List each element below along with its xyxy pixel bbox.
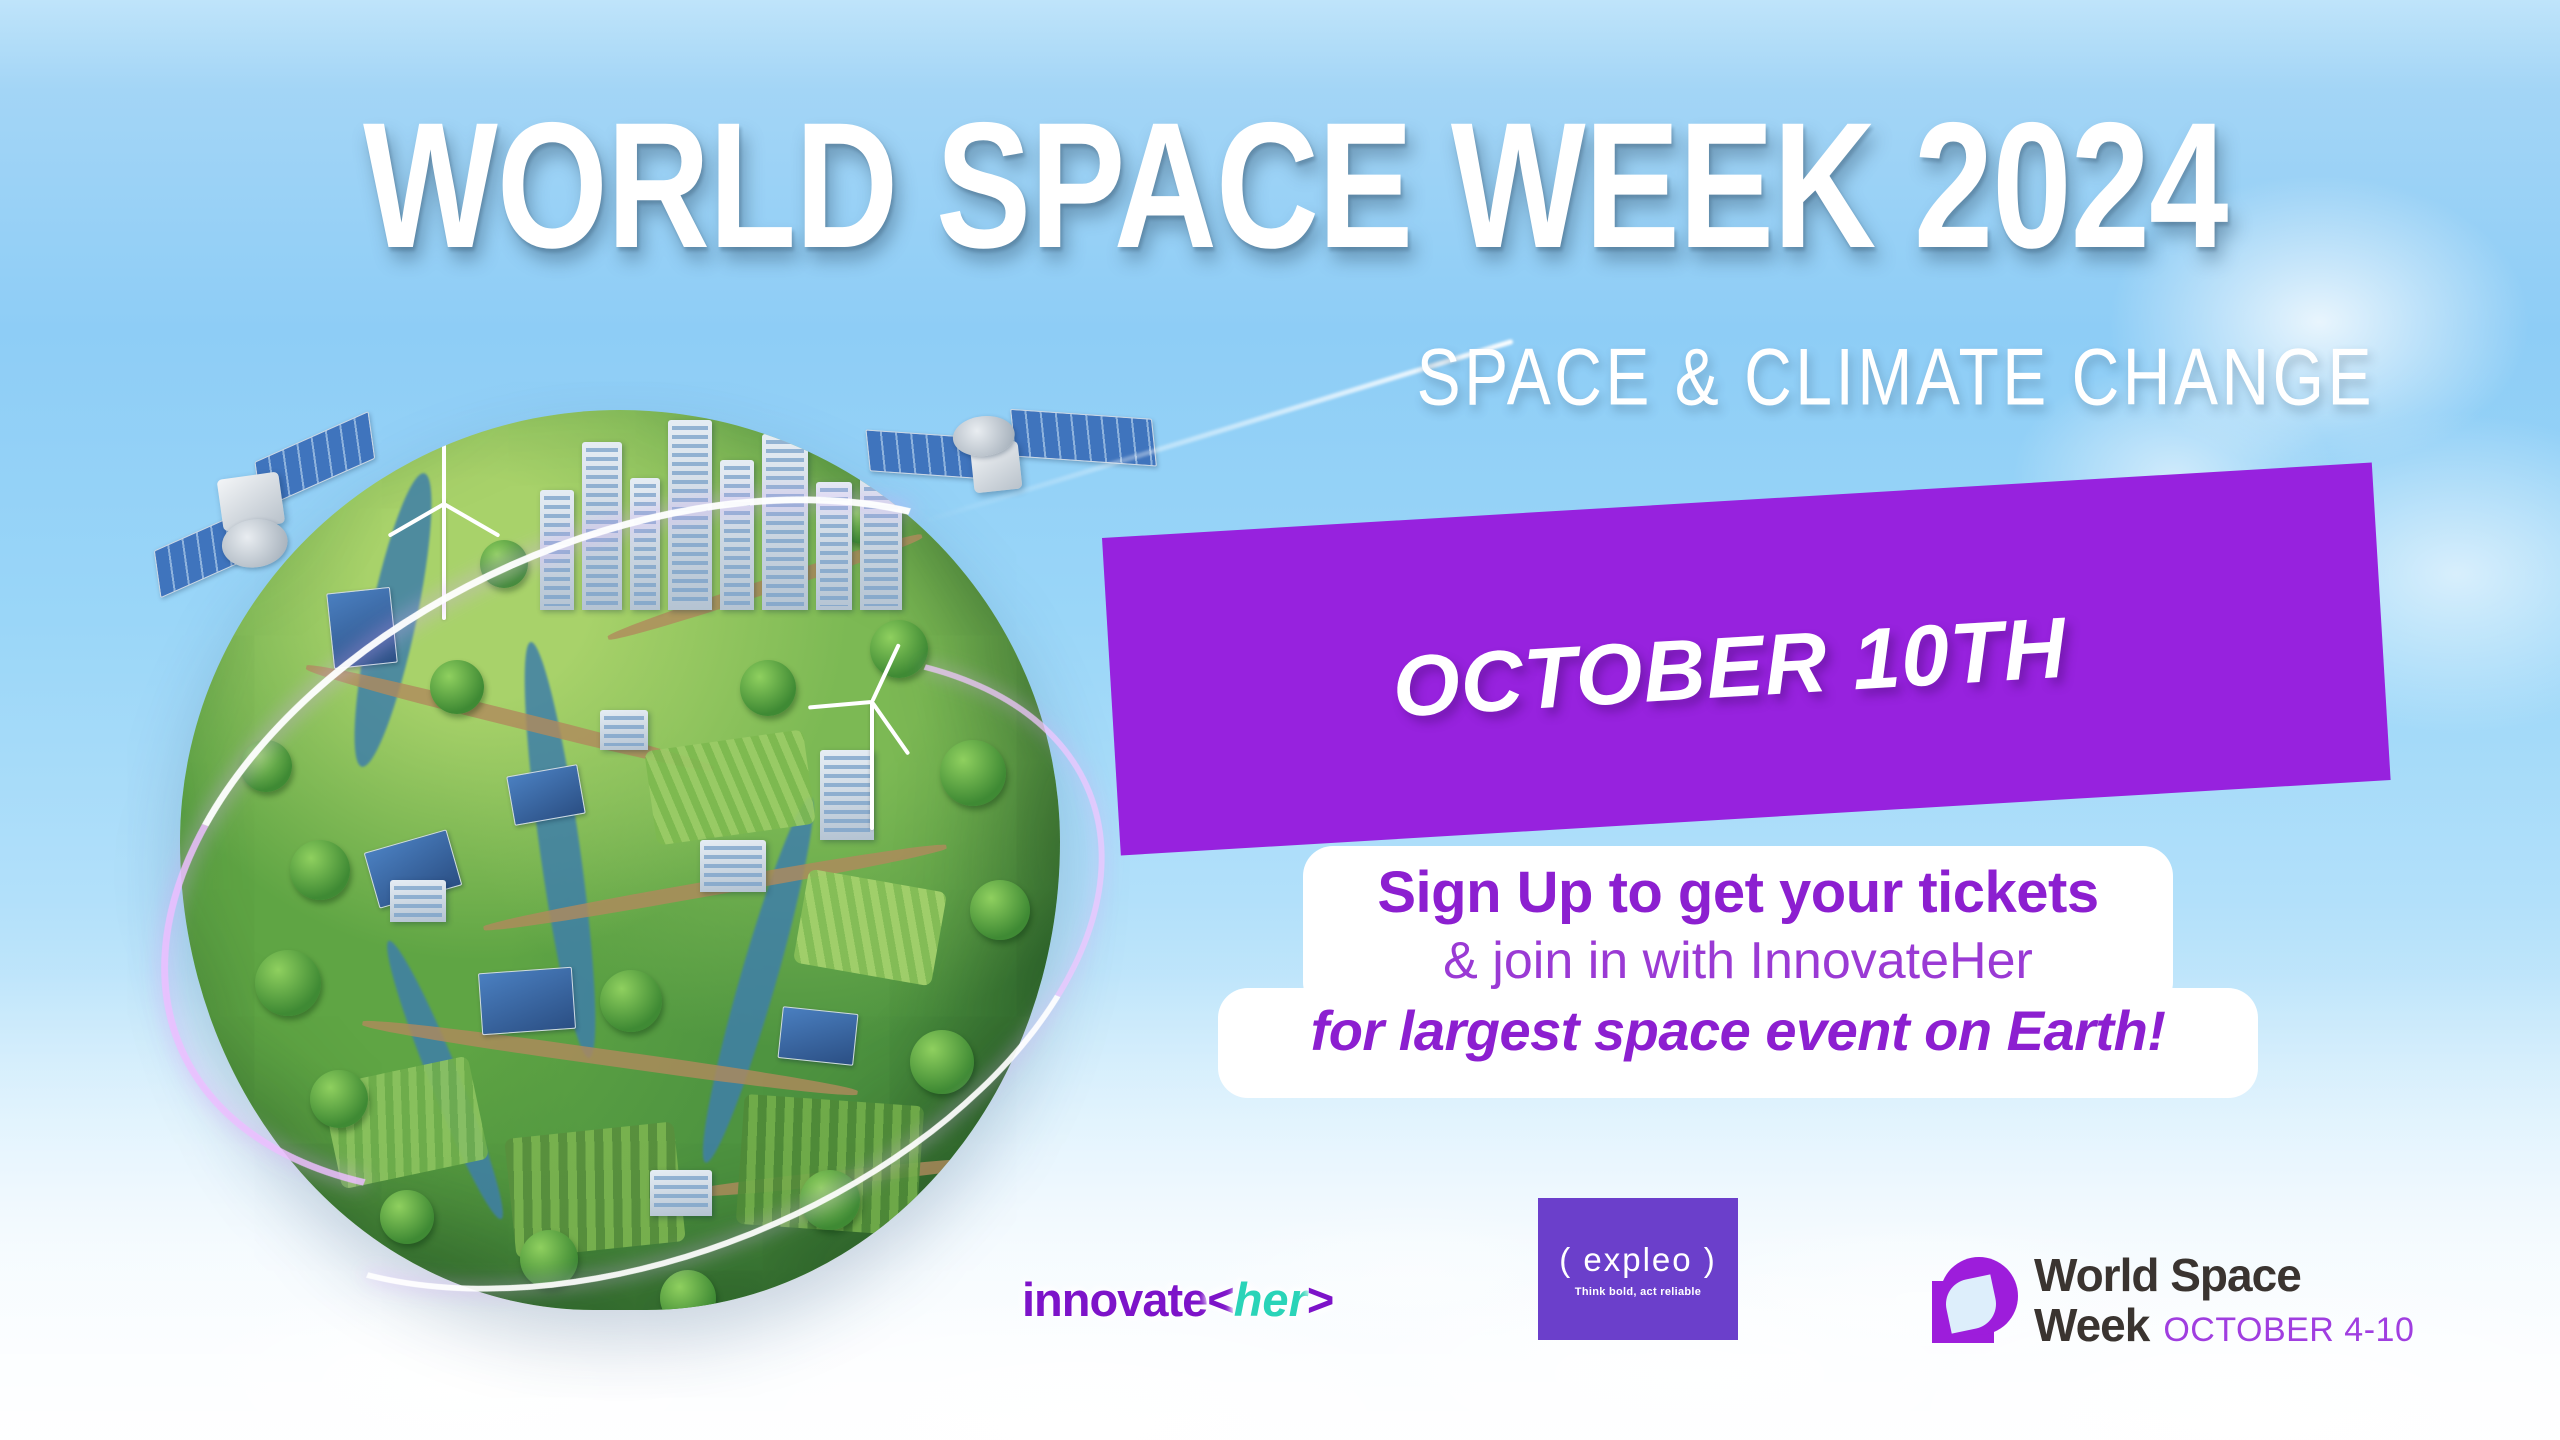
- page-subtitle: SPACE & CLIMATE CHANGE: [0, 330, 2560, 406]
- poster-canvas: WORLD SPACE WEEK 2024 SPACE & CLIMATE CH…: [0, 0, 2560, 1440]
- expleo-tagline: Think bold, act reliable: [1575, 1286, 1701, 1298]
- innovateher-her: her: [1234, 1273, 1307, 1326]
- signup-callout[interactable]: Sign Up to get your tickets & join in wi…: [1218, 858, 2258, 1068]
- wsw-line-2: Week: [2034, 1302, 2149, 1348]
- callout-line-2: & join in with InnovateHer: [1218, 928, 2258, 994]
- innovateher-logo[interactable]: innovate<her>: [1022, 1272, 1333, 1327]
- wsw-line-1: World Space: [2034, 1252, 2414, 1298]
- wsw-mark-icon: [1932, 1257, 2018, 1343]
- satellite-icon: [139, 409, 402, 621]
- expleo-wordmark: ( expleo ): [1559, 1241, 1717, 1279]
- subtitle-text: SPACE & CLIMATE CHANGE: [1417, 330, 2375, 423]
- callout-line-3: for largest space event on Earth!: [1218, 994, 2258, 1068]
- world-space-week-logo[interactable]: World Space Week OCTOBER 4-10: [1932, 1252, 2414, 1348]
- expleo-logo[interactable]: ( expleo ) Think bold, act reliable: [1538, 1198, 1738, 1340]
- wsw-dates: OCTOBER 4-10: [2163, 1313, 2414, 1347]
- callout-line-1: Sign Up to get your tickets: [1218, 858, 2258, 928]
- page-title: WORLD SPACE WEEK 2024: [0, 96, 2560, 236]
- angle-bracket-close-icon: >: [1307, 1273, 1333, 1326]
- angle-bracket-open-icon: <: [1207, 1273, 1233, 1326]
- tree: [660, 1270, 716, 1310]
- title-text: WORLD SPACE WEEK 2024: [332, 96, 2227, 275]
- innovateher-word: innovate: [1022, 1273, 1207, 1326]
